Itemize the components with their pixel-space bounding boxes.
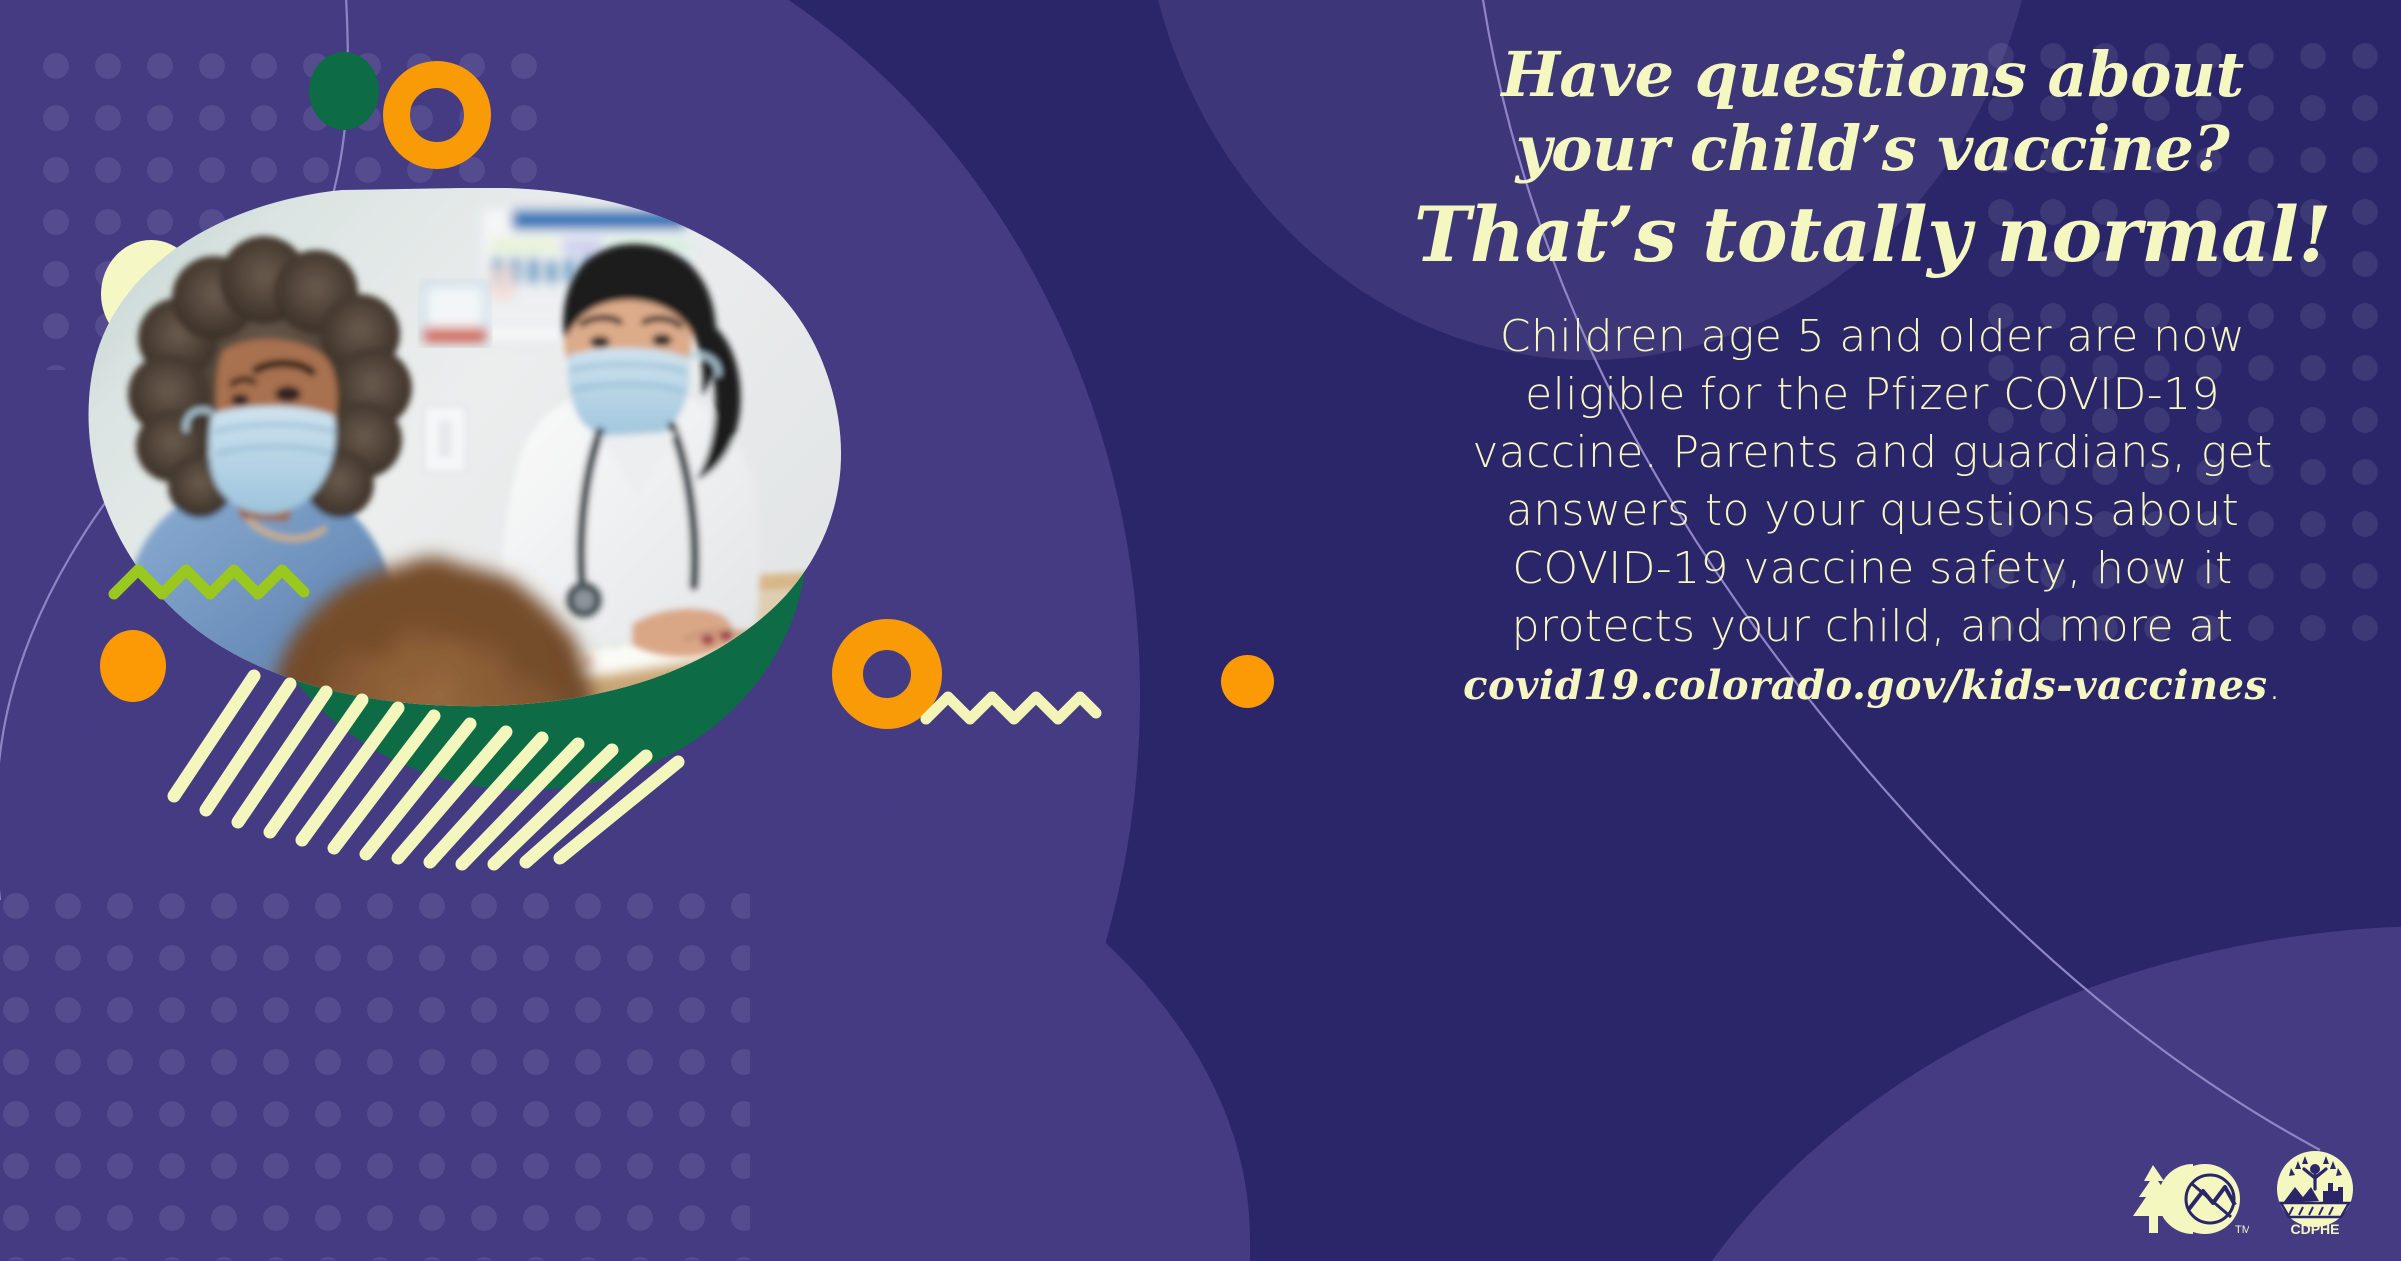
- diagonal-stripe-cluster-lower-icon: [168, 600, 728, 880]
- body-line-0: Children age 5 and older are now: [1390, 308, 2355, 366]
- body-line-4: COVID-19 vaccine safety, how it: [1390, 540, 2355, 598]
- svg-text:TM: TM: [2235, 1224, 2249, 1236]
- headline: Have questions about your child’s vaccin…: [1390, 38, 2355, 278]
- headline-line-3: That’s totally normal!: [1390, 192, 2355, 278]
- body-line-3: answers to your questions about: [1390, 482, 2355, 540]
- body-line-2: vaccine. Parents and guardians, get: [1390, 424, 2355, 482]
- logo-lockup: TM CDPHE: [2131, 1149, 2359, 1237]
- orange-ring-top-left-icon: [383, 61, 491, 169]
- body-line-1: eligible for the Pfizer COVID-19: [1390, 366, 2355, 424]
- body-line-5: protects your child, and more at: [1390, 598, 2355, 656]
- headline-line-1: Have questions about: [1390, 38, 2355, 112]
- url-line: covid19.colorado.gov/kids-vaccines.: [1390, 656, 2355, 715]
- website-url[interactable]: covid19.colorado.gov/kids-vaccines: [1463, 662, 2267, 709]
- url-period: .: [2268, 659, 2282, 710]
- body-paragraph: Children age 5 and older are now eligibl…: [1390, 308, 2355, 715]
- green-dot-bottom-middle-icon: [634, 683, 694, 745]
- copy-block: Have questions about your child’s vaccin…: [1390, 38, 2355, 715]
- cdphe-label: CDPHE: [2290, 1221, 2339, 1237]
- colorado-co-logo-icon: TM: [2131, 1161, 2249, 1237]
- poster-canvas: Have questions about your child’s vaccin…: [0, 0, 2401, 1261]
- cdphe-logo-icon: CDPHE: [2271, 1149, 2359, 1237]
- headline-line-2: your child’s vaccine?: [1390, 112, 2355, 186]
- cream-zigzag-icon: [920, 685, 1110, 735]
- orange-dot-bottom-right-icon: [1221, 655, 1274, 708]
- orange-dot-lower-left-icon: [100, 630, 166, 702]
- green-circle-top-icon: [309, 52, 379, 130]
- lime-zigzag-icon: [108, 558, 348, 614]
